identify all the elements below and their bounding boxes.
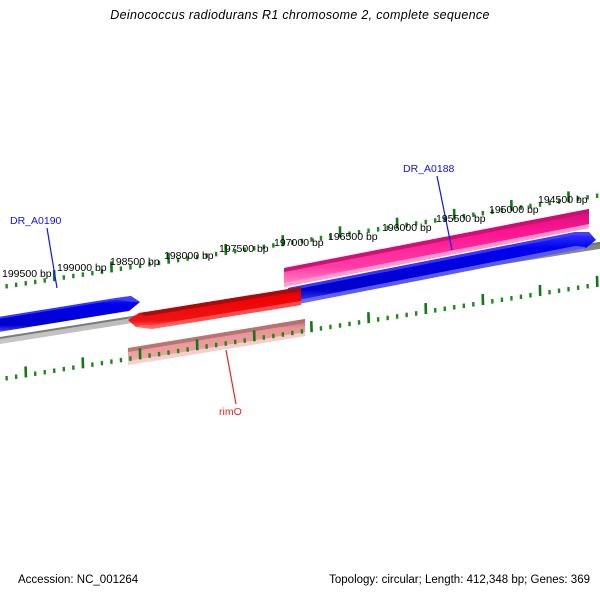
ruler-minor-tick <box>148 353 151 358</box>
ruler-minor-tick <box>520 295 523 300</box>
gene-label-rimo[interactable]: rimO <box>219 406 242 418</box>
ruler-minor-tick <box>339 323 342 328</box>
ruler-minor-tick <box>463 304 466 309</box>
ruler-minor-tick <box>205 344 208 349</box>
ruler-minor-tick <box>34 280 37 285</box>
ruler-minor-tick <box>15 374 18 379</box>
ruler-tick-label: 198500 bp <box>110 256 160 268</box>
ruler-minor-tick <box>434 308 437 313</box>
ruler-minor-tick <box>215 252 218 257</box>
ruler-major-tick <box>310 321 313 332</box>
ruler-minor-tick <box>101 361 104 366</box>
ruler-major-tick <box>253 330 256 341</box>
ruler-minor-tick <box>405 313 408 318</box>
ruler-minor-tick <box>215 343 218 348</box>
ruler-minor-tick <box>291 331 294 336</box>
sequence-stats-text: Topology: circular; Length: 412,348 bp; … <box>329 574 590 586</box>
ruler-minor-tick <box>91 362 94 367</box>
sequence-viewer-canvas: Deinococcus radiodurans R1 chromosome 2,… <box>0 0 600 600</box>
ruler-minor-tick <box>263 335 266 340</box>
ruler-tick-label: 195500 bp <box>436 213 486 225</box>
ruler-minor-tick <box>72 365 75 370</box>
ruler-minor-tick <box>129 356 132 361</box>
ruler-minor-tick <box>24 281 27 286</box>
ruler-minor-tick <box>348 322 351 327</box>
ruler-minor-tick <box>558 288 561 293</box>
ruler-minor-tick <box>301 329 304 334</box>
ruler-major-tick <box>481 294 484 305</box>
gene-leader-line <box>226 350 236 404</box>
ruler-minor-tick <box>158 352 161 357</box>
ruler-minor-tick <box>329 325 332 330</box>
ruler-minor-tick <box>491 299 494 304</box>
ruler-tick-label: 197000 bp <box>274 237 324 249</box>
ruler-major-tick <box>24 366 27 377</box>
ruler-minor-tick <box>510 296 513 301</box>
ruler-minor-tick <box>5 376 8 381</box>
ruler-minor-tick <box>443 307 446 312</box>
ruler-major-tick <box>139 348 142 359</box>
ruler-tick-label: 196000 bp <box>382 222 432 234</box>
ruler-minor-tick <box>186 347 189 352</box>
gene-label-dr-a0190[interactable]: DR_A0190 <box>10 215 61 227</box>
graphic-overlay <box>0 0 600 600</box>
ruler-minor-tick <box>5 284 8 289</box>
ruler-minor-tick <box>586 284 589 289</box>
ruler-minor-tick <box>234 340 237 345</box>
ruler-minor-tick <box>577 285 580 290</box>
ruler-minor-tick <box>320 326 323 331</box>
ruler-minor-tick <box>34 371 37 376</box>
ruler-tick-label: 196500 bp <box>328 231 378 243</box>
accession-text: Accession: NC_001264 <box>18 574 138 586</box>
ruler-minor-tick <box>272 334 275 339</box>
ruler-minor-tick <box>529 293 532 298</box>
feature-red-reverse[interactable] <box>128 287 301 329</box>
ruler-major-tick <box>81 357 84 368</box>
ruler-minor-tick <box>415 311 418 316</box>
ruler-minor-tick <box>43 370 46 375</box>
ruler-minor-tick <box>63 275 66 280</box>
ruler-minor-tick <box>15 283 18 288</box>
ruler-minor-tick <box>243 338 246 343</box>
ruler-major-tick <box>424 303 427 314</box>
gene-label-dr-a0188[interactable]: DR_A0188 <box>403 163 454 175</box>
ruler-minor-tick <box>396 314 399 319</box>
ruler-minor-tick <box>548 290 551 295</box>
ruler-minor-tick <box>110 359 113 364</box>
ruler-minor-tick <box>377 317 380 322</box>
ruler-minor-tick <box>453 305 456 310</box>
ruler-tick-label: 199500 bp <box>2 268 52 280</box>
ruler-major-tick <box>196 339 199 350</box>
ruler-minor-tick <box>501 298 504 303</box>
ruler-major-tick <box>367 312 370 323</box>
ruler-minor-tick <box>167 350 170 355</box>
ruler-minor-tick <box>177 349 180 354</box>
ruler-tick-label: 195000 bp <box>489 204 539 216</box>
ruler-minor-tick <box>282 332 285 337</box>
gene-leader-lines <box>47 176 452 404</box>
ruler-tick-label: 194500 bp <box>538 194 588 206</box>
ruler-minor-tick <box>567 287 570 292</box>
ruler-tick-label: 199000 bp <box>57 262 107 274</box>
ruler-minor-tick <box>120 358 123 363</box>
ruler-minor-tick <box>53 368 56 373</box>
ruler-minor-tick <box>224 341 227 346</box>
ruler-minor-tick <box>386 316 389 321</box>
ruler-minor-tick <box>72 274 75 279</box>
ruler-minor-tick <box>63 367 66 372</box>
ruler-minor-tick <box>358 320 361 325</box>
ruler-major-tick <box>539 285 542 296</box>
ruler-tick-label: 198000 bp <box>164 250 214 262</box>
ruler-minor-tick <box>596 193 599 198</box>
ruler-major-tick <box>596 276 599 287</box>
ruler-tick-label: 197500 bp <box>219 243 269 255</box>
ruler-minor-tick <box>472 302 475 307</box>
